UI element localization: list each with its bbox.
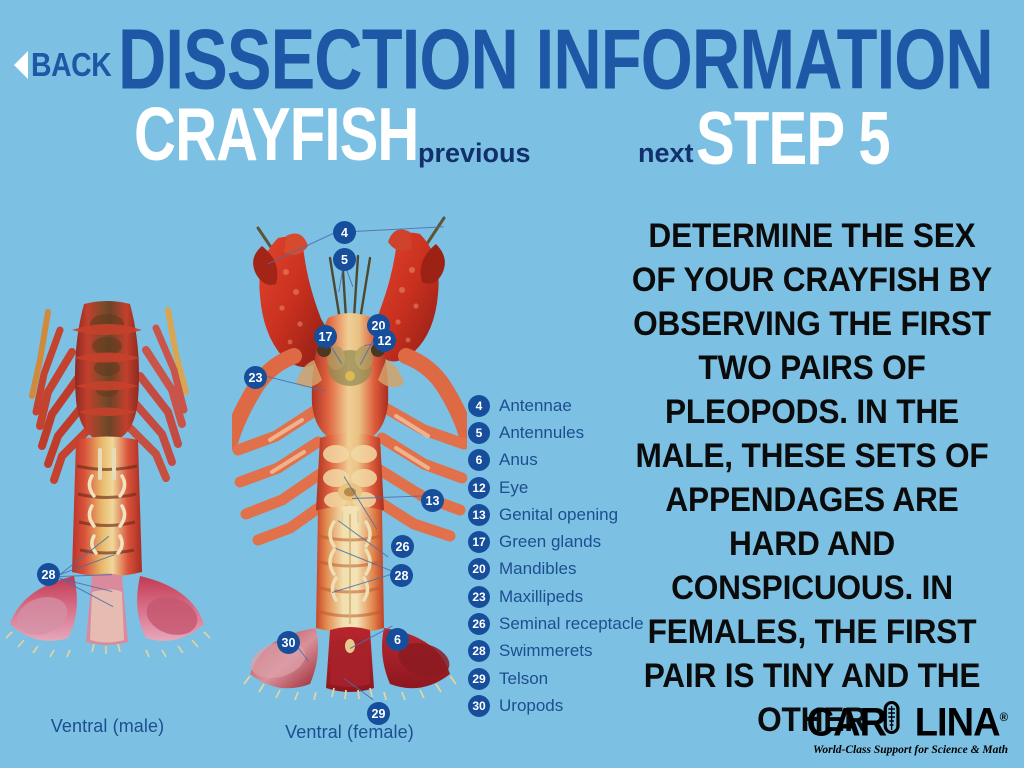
- specimen-title: CRAYFISH: [134, 96, 419, 171]
- legend-label: Swimmerets: [499, 641, 593, 661]
- legend-badge: 29: [468, 668, 490, 690]
- page-title: DISSECTION INFORMATION: [118, 18, 993, 103]
- caption-female: Ventral (female): [232, 722, 467, 743]
- legend-badge: 20: [468, 558, 490, 580]
- callout-female-17[interactable]: 17: [314, 325, 337, 348]
- callout-female-23[interactable]: 23: [244, 366, 267, 389]
- legend-badge: 26: [468, 613, 490, 635]
- back-arrow-icon: [14, 51, 28, 79]
- callout-female-12[interactable]: 12: [373, 329, 396, 352]
- carolina-wordmark: CAROLINA®: [807, 697, 1008, 742]
- legend-badge: 23: [468, 586, 490, 608]
- callout-female-29[interactable]: 29: [367, 702, 390, 725]
- callout-female-28[interactable]: 28: [390, 564, 413, 587]
- legend-label: Antennae: [499, 396, 572, 416]
- legend-label: Antennules: [499, 423, 584, 443]
- legend-label: Anus: [499, 450, 538, 470]
- registered-mark: ®: [1000, 710, 1008, 724]
- legend-label: Maxillipeds: [499, 587, 583, 607]
- specimen-panel-female: Ventral (female) 451720122313262830629: [232, 200, 467, 768]
- wordmark-part-1: CAR: [807, 700, 886, 744]
- step-indicator: STEP 5: [696, 100, 890, 175]
- legend-label: Green glands: [499, 532, 601, 552]
- legend-badge: 4: [468, 395, 490, 417]
- callout-female-4[interactable]: 4: [333, 221, 356, 244]
- legend-badge: 17: [468, 531, 490, 553]
- next-link[interactable]: next: [638, 140, 694, 167]
- specimen-panel-male: Ventral (male) 28: [0, 300, 215, 768]
- back-button-label: BACK: [31, 48, 111, 81]
- legend-label: Mandibles: [499, 559, 577, 579]
- legend-badge: 6: [468, 449, 490, 471]
- test-tube-icon: [884, 701, 900, 734]
- carolina-logo: CAROLINA® World-Class Support for Scienc…: [796, 697, 1008, 756]
- callout-female-6[interactable]: 6: [386, 628, 409, 651]
- back-button[interactable]: BACK: [14, 48, 124, 81]
- callout-female-13[interactable]: 13: [421, 489, 444, 512]
- wordmark-part-2: LINA: [915, 700, 1000, 744]
- crayfish-ventral-female-photo: [232, 200, 467, 700]
- legend-badge: 30: [468, 695, 490, 717]
- legend-label: Genital opening: [499, 505, 618, 525]
- callout-female-5[interactable]: 5: [333, 248, 356, 271]
- callout-female-30[interactable]: 30: [277, 631, 300, 654]
- legend-badge: 5: [468, 422, 490, 444]
- legend-label: Uropods: [499, 696, 563, 716]
- carolina-tagline: World-Class Support for Science & Math: [796, 744, 1008, 756]
- callout-female-26[interactable]: 26: [391, 535, 414, 558]
- header: BACK DISSECTION INFORMATION CRAYFISH STE…: [0, 0, 1024, 190]
- legend-label: Telson: [499, 669, 548, 689]
- legend-badge: 12: [468, 477, 490, 499]
- caption-male: Ventral (male): [0, 716, 215, 737]
- legend-label: Seminal receptacle: [499, 614, 644, 634]
- legend-badge: 28: [468, 640, 490, 662]
- instruction-text: DETERMINE THE SEX OF YOUR CRAYFISH BY OB…: [626, 214, 998, 742]
- slide-root: BACK DISSECTION INFORMATION CRAYFISH STE…: [0, 0, 1024, 768]
- callout-male-28[interactable]: 28: [37, 563, 60, 586]
- legend-badge: 13: [468, 504, 490, 526]
- previous-link[interactable]: previous: [418, 140, 531, 167]
- legend-label: Eye: [499, 478, 528, 498]
- crayfish-ventral-male-photo: [0, 300, 215, 700]
